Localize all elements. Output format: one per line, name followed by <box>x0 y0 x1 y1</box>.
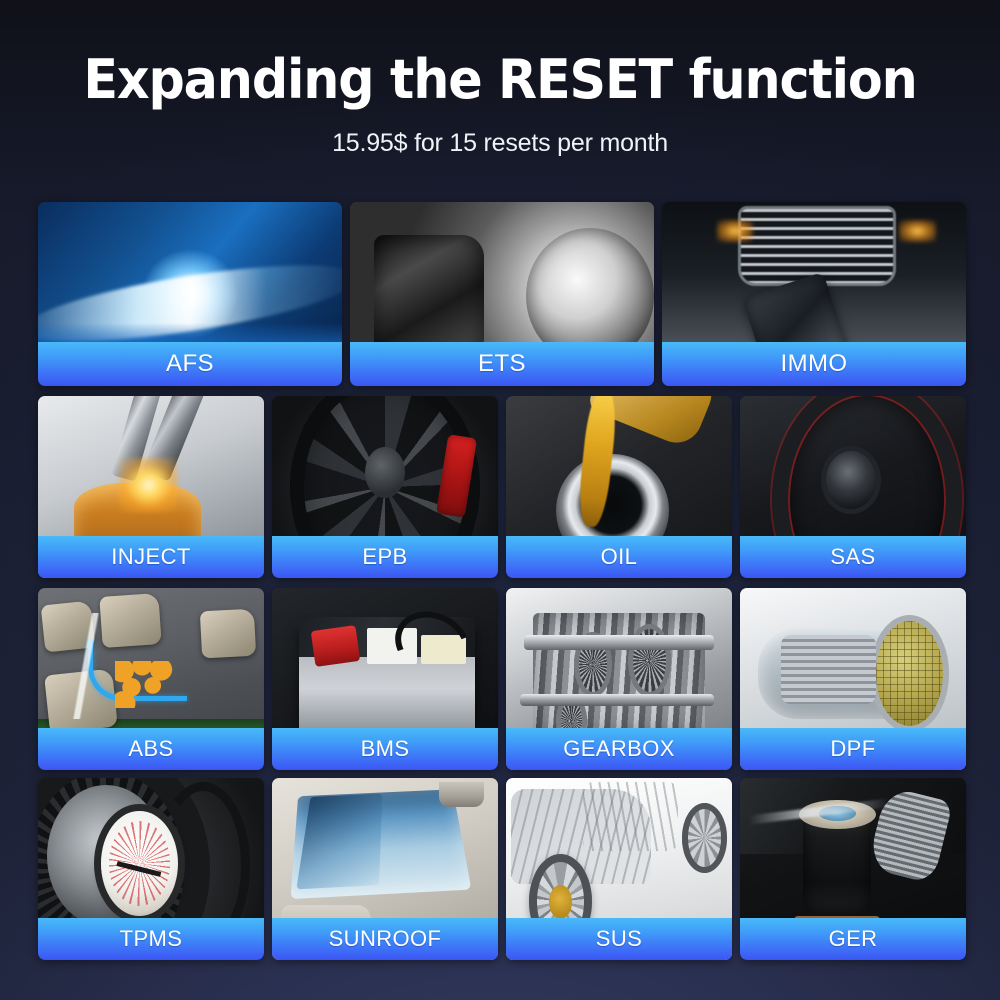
reset-tile-label: EPB <box>272 536 498 578</box>
filter-honeycomb-core-icon <box>876 621 944 727</box>
reset-tile-sas[interactable]: SAS <box>740 396 966 578</box>
reset-tile-inject[interactable]: INJECT <box>38 396 264 578</box>
car-icon <box>100 593 162 648</box>
reset-tile-label: GER <box>740 918 966 960</box>
grid-row: TPMS SUNROOF SUS GER <box>38 778 966 960</box>
reset-tile-label: AFS <box>38 342 342 386</box>
reset-tile-label: SUNROOF <box>272 918 498 960</box>
filter-cap-icon <box>799 800 876 829</box>
reset-function-grid: AFS ETS IMMO INJECT EPB <box>38 202 966 960</box>
oil-bottle-icon <box>586 396 719 451</box>
reset-tile-label: SUS <box>506 918 732 960</box>
battery-cable-icon <box>385 600 481 689</box>
page-title: Expanding the RESET function <box>30 52 970 109</box>
reset-tile-ger[interactable]: GER <box>740 778 966 960</box>
reset-tile-label: INJECT <box>38 536 264 578</box>
reset-tile-bms[interactable]: BMS <box>272 588 498 770</box>
grid-row: AFS ETS IMMO <box>38 202 966 386</box>
pressure-gauge-icon <box>101 811 178 917</box>
reset-tile-label: BMS <box>272 728 498 770</box>
reset-tile-label: ETS <box>350 342 654 386</box>
grab-handle-icon <box>439 782 484 807</box>
traffic-cones-icon <box>115 661 174 708</box>
engine-hose-icon <box>866 786 952 884</box>
reset-tile-sunroof[interactable]: SUNROOF <box>272 778 498 960</box>
rear-wheel-icon <box>682 803 727 872</box>
grid-row: ABS BMS GEARBOX D <box>38 588 966 770</box>
reset-tile-tpms[interactable]: TPMS <box>38 778 264 960</box>
reset-tile-immo[interactable]: IMMO <box>662 202 966 386</box>
headlight-glow-right-icon <box>899 220 935 242</box>
battery-terminal-icon <box>310 625 360 667</box>
reset-tile-epb[interactable]: EPB <box>272 396 498 578</box>
page-header: Expanding the RESET function 15.95$ for … <box>0 0 1000 158</box>
reset-tile-label: ABS <box>38 728 264 770</box>
reset-tile-dpf[interactable]: DPF <box>740 588 966 770</box>
brake-caliper-icon <box>435 434 477 518</box>
grid-row: INJECT EPB OIL SAS <box>38 396 966 578</box>
reset-tile-label: IMMO <box>662 342 966 386</box>
reset-tile-sus[interactable]: SUS <box>506 778 732 960</box>
reset-tile-label: DPF <box>740 728 966 770</box>
gearbox-shaft-icon <box>520 694 714 707</box>
reset-tile-label: TPMS <box>38 918 264 960</box>
reset-tile-ets[interactable]: ETS <box>350 202 654 386</box>
car-icon <box>44 668 118 733</box>
reset-tile-label: GEARBOX <box>506 728 732 770</box>
reset-tile-gearbox[interactable]: GEARBOX <box>506 588 732 770</box>
gear-icon <box>628 624 671 697</box>
headlight-glow-left-icon <box>717 220 753 242</box>
reset-tile-oil[interactable]: OIL <box>506 396 732 578</box>
reset-tile-label: OIL <box>506 536 732 578</box>
gear-icon <box>574 632 612 698</box>
reset-tile-label: SAS <box>740 536 966 578</box>
reset-tile-abs[interactable]: ABS <box>38 588 264 770</box>
reset-tile-afs[interactable]: AFS <box>38 202 342 386</box>
page-subtitle: 15.95$ for 15 resets per month <box>0 129 1000 158</box>
car-icon <box>200 608 257 658</box>
car-icon <box>40 600 94 652</box>
braking-path-icon <box>88 639 187 701</box>
